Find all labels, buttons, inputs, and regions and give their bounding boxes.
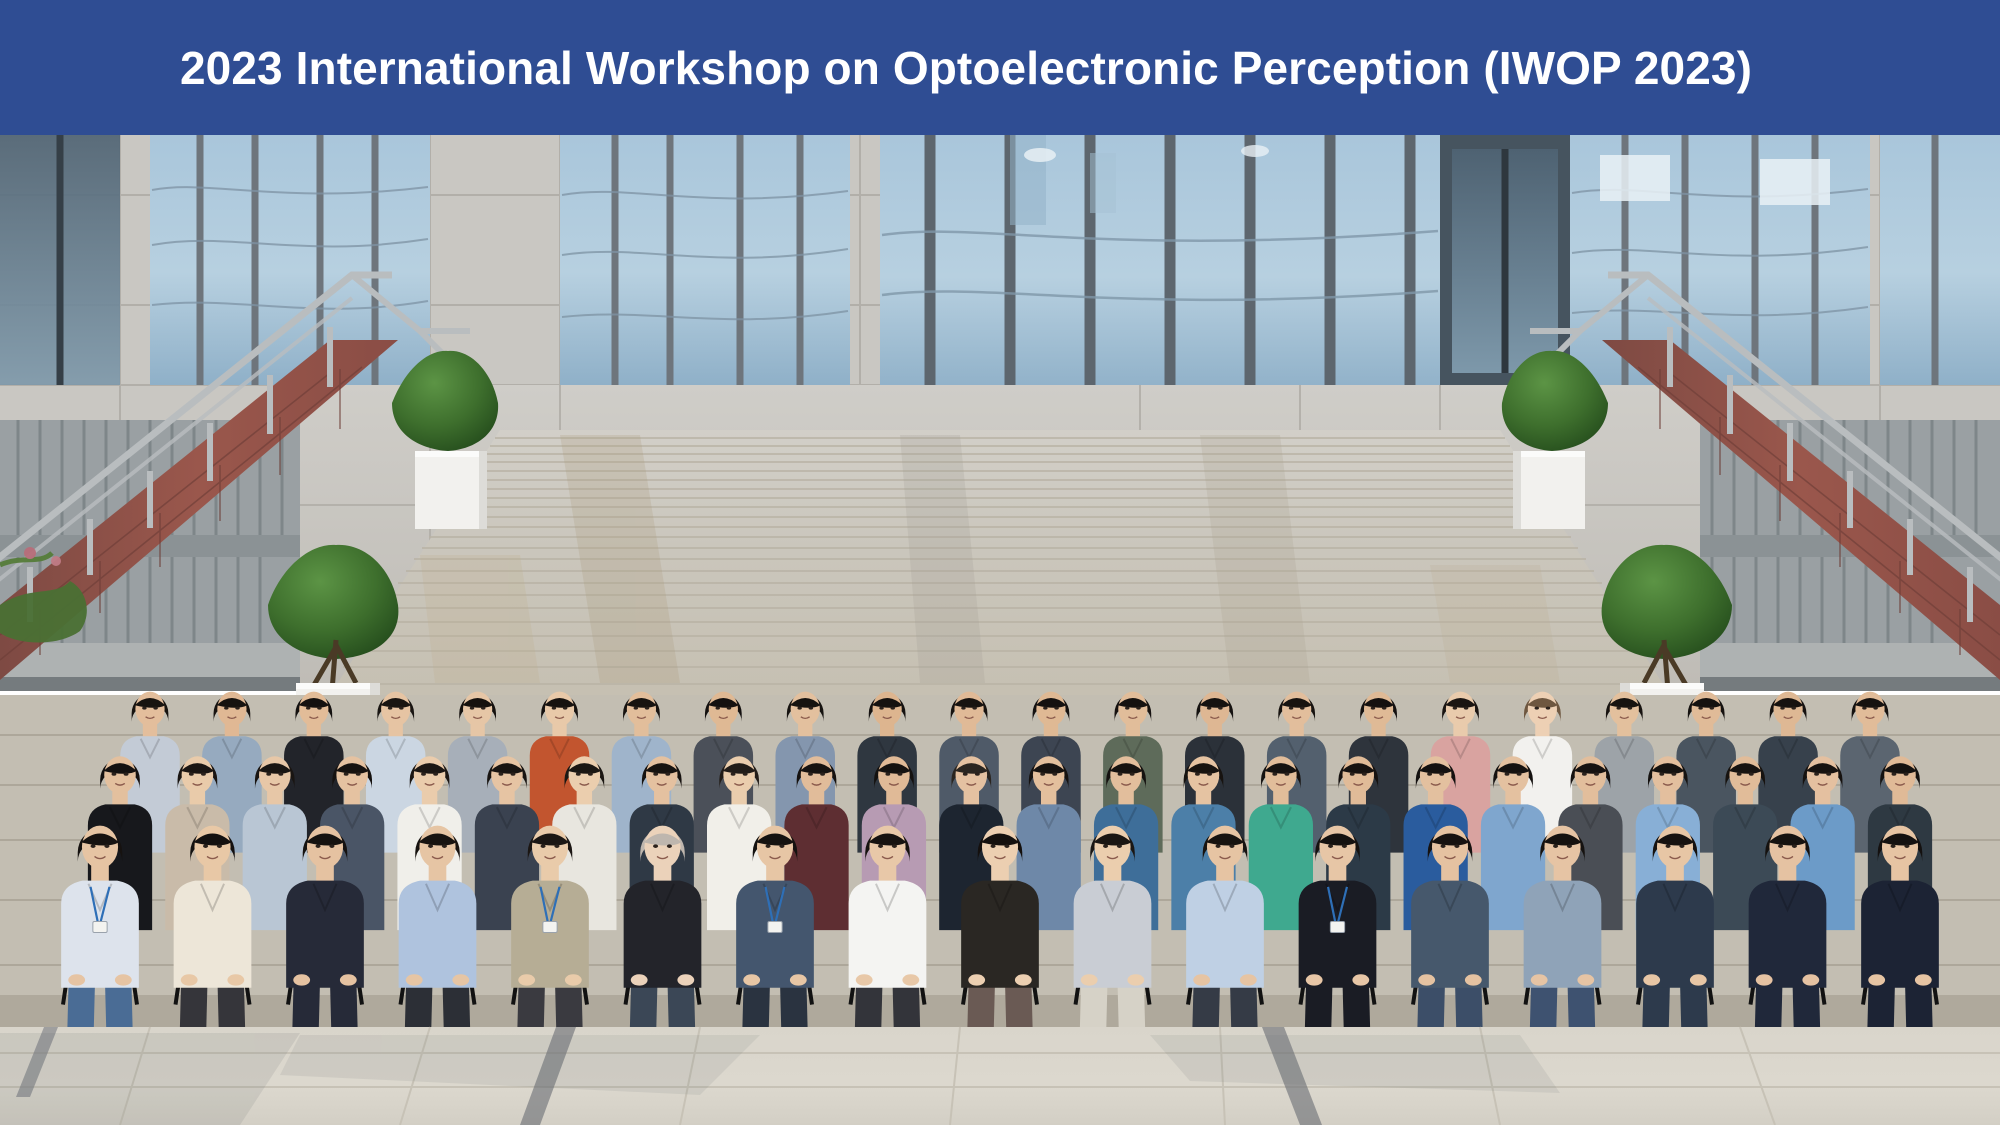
title-banner: 2023 International Workshop on Optoelect… [0, 0, 2000, 135]
entry-portal-left [0, 135, 120, 385]
screenshot-root: 2023 International Workshop on Optoelect… [0, 0, 2000, 1125]
window-bank-center [880, 135, 1440, 393]
page-title: 2023 International Workshop on Optoelect… [180, 45, 1752, 91]
entry-portal-right [1440, 135, 1570, 385]
photo-canvas [0, 135, 2000, 1125]
group-photo [0, 135, 2000, 1125]
